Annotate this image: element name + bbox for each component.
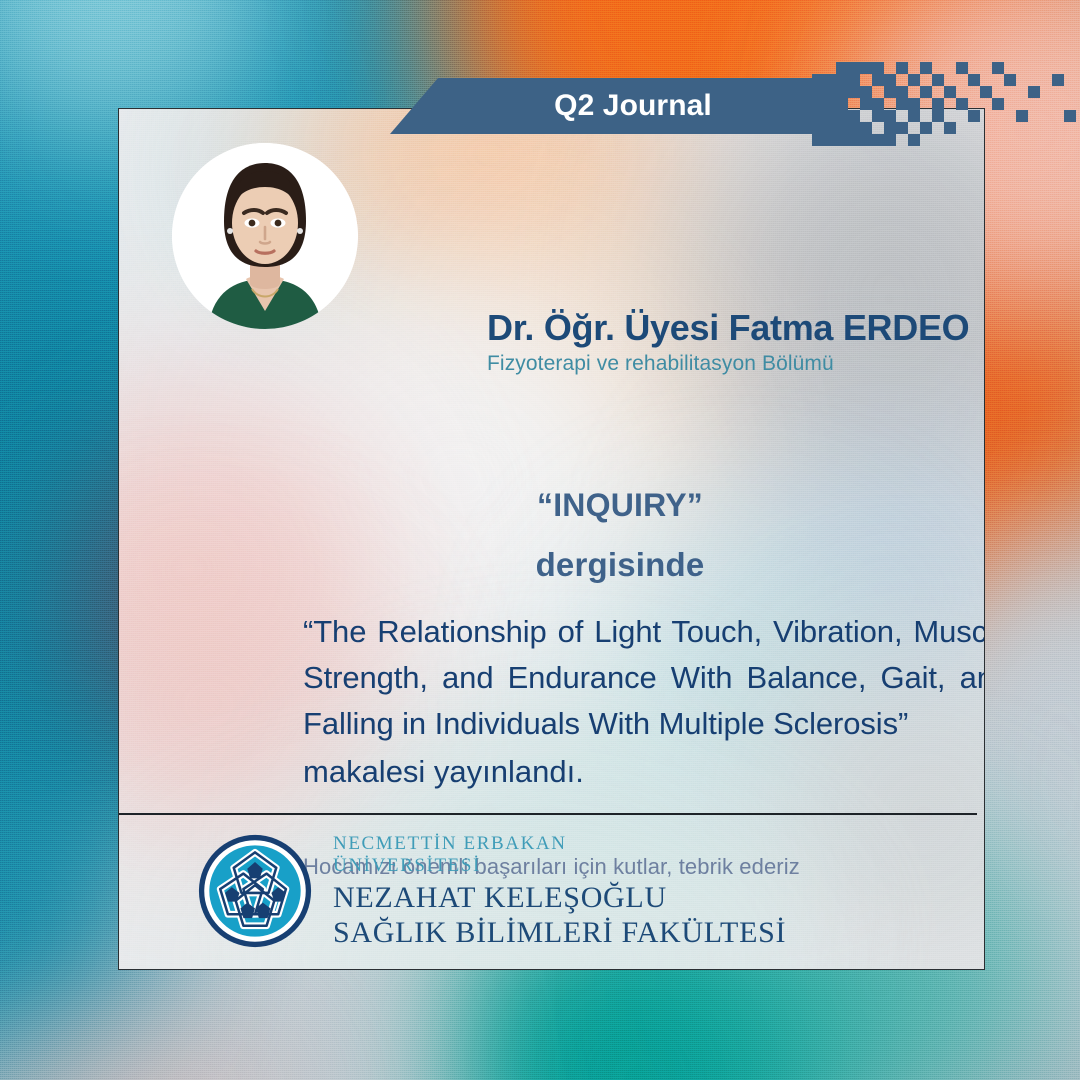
avatar [172, 143, 358, 329]
pixel-square [812, 110, 824, 122]
person-department: Fizyoterapi ve rehabilitasyon Bölümü [487, 352, 985, 376]
pixel-square [896, 86, 908, 98]
pixel-square [836, 110, 848, 122]
pixel-square [956, 98, 968, 110]
pixel-dissolve-icon [812, 62, 1012, 152]
pixel-square [1052, 74, 1064, 86]
pixel-square [992, 98, 1004, 110]
pixel-square [812, 134, 824, 146]
pixel-square [824, 110, 836, 122]
university-line-1: NECMETTİN ERBAKAN [333, 833, 786, 854]
pixel-square [908, 98, 920, 110]
faculty-line-2: SAĞLIK BİLİMLERİ FAKÜLTESİ [333, 915, 786, 950]
pixel-square [992, 62, 1004, 74]
pixel-square [836, 86, 848, 98]
pixel-square [968, 74, 980, 86]
pixel-square [884, 110, 896, 122]
pixel-square [944, 122, 956, 134]
pixel-square [872, 62, 884, 74]
pixel-square [848, 62, 860, 74]
faculty-line-1: NEZAHAT KELEŞOĞLU [333, 880, 786, 915]
pixel-square [884, 86, 896, 98]
footer-divider [118, 813, 977, 815]
pixel-square [848, 122, 860, 134]
pixel-square [896, 98, 908, 110]
pixel-square [824, 134, 836, 146]
university-line-2: ÜNİVERSİTESİ [333, 855, 786, 876]
pixel-square [848, 134, 860, 146]
pixel-square [908, 74, 920, 86]
pixel-square [824, 98, 836, 110]
page-title: Dr. Öğr. Üyesi Fatma ERDEO [487, 307, 985, 348]
pixel-square [836, 122, 848, 134]
pixel-square [908, 134, 920, 146]
pixel-square [920, 86, 932, 98]
banner-label: Q2 Journal [524, 89, 712, 123]
footer-branding: NECMETTİN ERBAKAN ÜNİVERSİTESİ NEZAHAT K… [197, 821, 957, 961]
pixel-square [968, 110, 980, 122]
pixel-square [872, 98, 884, 110]
pixel-square [872, 134, 884, 146]
pixel-square [908, 110, 920, 122]
pixel-square [848, 86, 860, 98]
pixel-square [896, 122, 908, 134]
pixel-square [944, 86, 956, 98]
pixel-square [812, 74, 824, 86]
pixel-square [824, 86, 836, 98]
pixel-square [860, 98, 872, 110]
pixel-square [1064, 110, 1076, 122]
person-info: Dr. Öğr. Üyesi Fatma ERDEO Fizyoterapi v… [487, 307, 985, 376]
pixel-square [836, 74, 848, 86]
pixel-square [1004, 74, 1016, 86]
pixel-square [884, 134, 896, 146]
article-title: “The Relationship of Light Touch, Vibrat… [303, 609, 985, 747]
journal-quartile-banner: Q2 Journal [390, 78, 846, 134]
pixel-square [848, 74, 860, 86]
pixel-square [872, 110, 884, 122]
pixel-square [896, 62, 908, 74]
pixel-square [932, 74, 944, 86]
pixel-square [980, 86, 992, 98]
pixel-square [920, 62, 932, 74]
pixel-square [932, 110, 944, 122]
pixel-square [860, 122, 872, 134]
pixel-square [920, 122, 932, 134]
pixel-square [836, 134, 848, 146]
university-name-block: NECMETTİN ERBAKAN ÜNİVERSİTESİ NEZAHAT K… [333, 831, 786, 950]
journal-name: “INQUIRY” [252, 487, 985, 524]
pixel-square [932, 98, 944, 110]
article-info: “The Relationship of Light Touch, Vibrat… [303, 609, 985, 795]
pixel-square [860, 86, 872, 98]
article-publication-note: makalesi yayınlandı. [303, 749, 985, 795]
pixel-square [956, 62, 968, 74]
pixel-square [884, 122, 896, 134]
journal-preposition: dergisinde [252, 546, 985, 584]
pixel-square [812, 98, 824, 110]
pixel-square [836, 98, 848, 110]
university-seal-knot-icon [197, 833, 313, 949]
pixel-square [812, 86, 824, 98]
pixel-square [848, 110, 860, 122]
pixel-square [872, 74, 884, 86]
pixel-square [1028, 86, 1040, 98]
journal-info: “INQUIRY” dergisinde [252, 487, 985, 584]
pixel-square [884, 74, 896, 86]
pixel-square [836, 62, 848, 74]
pixel-square [860, 134, 872, 146]
pixel-square [824, 122, 836, 134]
pixel-square [824, 74, 836, 86]
pixel-square [1016, 110, 1028, 122]
pixel-square [812, 122, 824, 134]
pixel-square [860, 62, 872, 74]
